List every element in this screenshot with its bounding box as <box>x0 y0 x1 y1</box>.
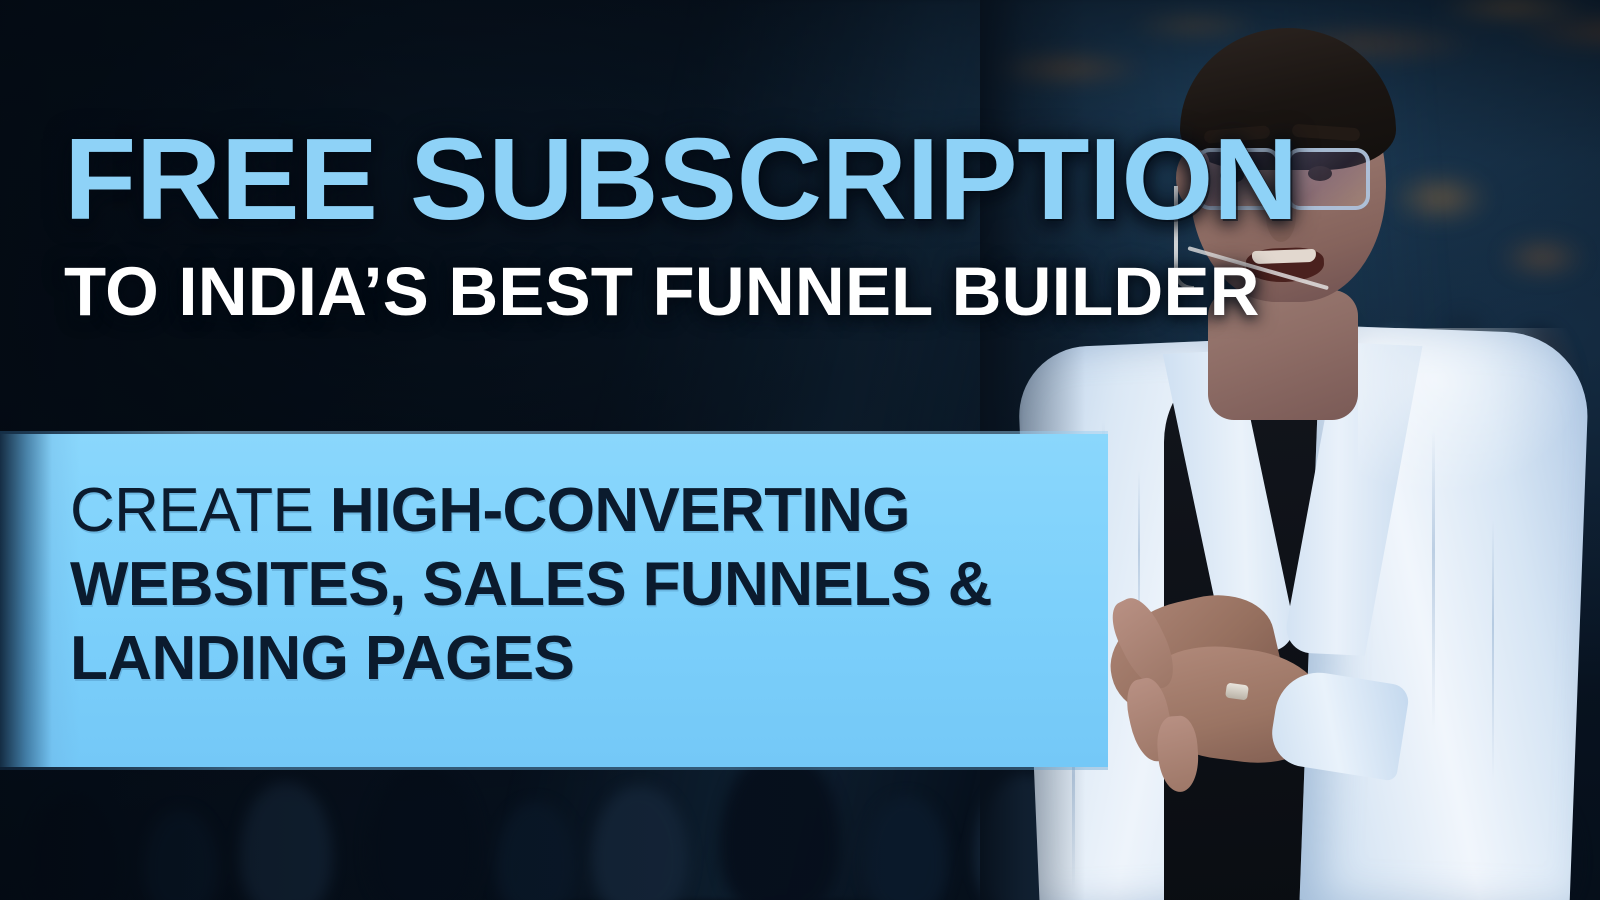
eyeglasses-lens-right <box>1286 148 1370 210</box>
subheadline-line-2-bold: WEBSITES, SALES FUNNELS & <box>70 550 992 619</box>
subheadline-line-1-regular: CREATE <box>70 476 330 545</box>
blazer-shoulder-highlight <box>1358 328 1588 498</box>
headline-secondary: TO INDIA’S BEST FUNNEL BUILDER <box>64 259 1124 325</box>
subheadline-text-block: CREATE HIGH-CONVERTING WEBSITES, SALES F… <box>70 474 1070 695</box>
teeth <box>1252 249 1316 264</box>
blazer-fold-line <box>1432 430 1435 730</box>
subheadline-banner: CREATE HIGH-CONVERTING WEBSITES, SALES F… <box>0 434 1108 767</box>
headline-primary: FREE SUBSCRIPTION <box>64 126 1145 233</box>
subheadline-line-3-bold: LANDING PAGES <box>70 624 574 693</box>
headline-block: FREE SUBSCRIPTION TO INDIA’S BEST FUNNEL… <box>64 126 1124 325</box>
subheadline-line-1: CREATE HIGH-CONVERTING <box>70 474 1070 548</box>
subheadline-line-2: WEBSITES, SALES FUNNELS & <box>70 548 1070 622</box>
blazer-fold-line <box>1492 520 1494 780</box>
promo-banner: FREE SUBSCRIPTION TO INDIA’S BEST FUNNEL… <box>0 0 1600 900</box>
subheadline-line-1-bold: HIGH-CONVERTING <box>330 476 910 545</box>
finger-ring <box>1225 683 1249 701</box>
subheadline-line-3: LANDING PAGES <box>70 622 1070 696</box>
